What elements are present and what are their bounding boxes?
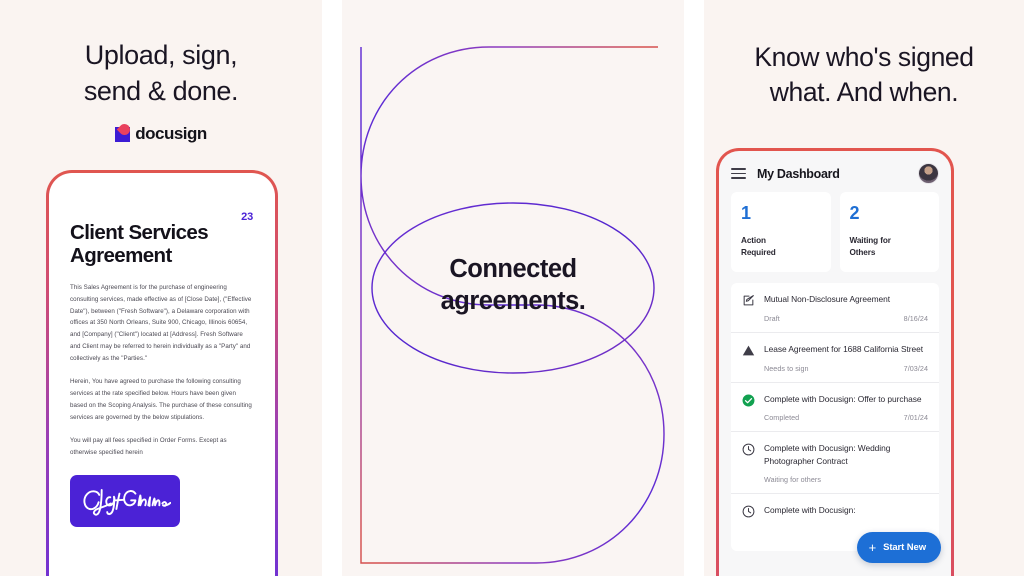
list-item-body: Complete with Docusign: Offer to purchas… xyxy=(764,393,928,423)
document-meta: Completed 7/01/24 xyxy=(764,413,928,422)
panel-connected-agreements: Connected agreements. xyxy=(342,0,684,576)
list-item[interactable]: Complete with Docusign: Wedding Photogra… xyxy=(731,432,939,494)
list-item[interactable]: Complete with Docusign: xyxy=(731,494,939,527)
panel-divider xyxy=(684,0,704,576)
dashboard-title: My Dashboard xyxy=(757,167,907,181)
right-headline-line1: Know who's signed xyxy=(754,42,973,72)
list-item-body: Complete with Docusign: xyxy=(764,504,928,518)
left-headline: Upload, sign, send & done. xyxy=(0,38,322,109)
hamburger-menu-icon[interactable] xyxy=(731,168,746,179)
document-paragraph: Herein, You have agreed to purchase the … xyxy=(70,376,254,424)
docusign-logo: docusign xyxy=(0,124,322,144)
clock-icon xyxy=(742,442,755,484)
document-name: Lease Agreement for 1688 California Stre… xyxy=(764,343,928,356)
stat-value: 2 xyxy=(850,204,930,222)
list-item[interactable]: Lease Agreement for 1688 California Stre… xyxy=(731,333,939,383)
document-title: Client Services Agreement xyxy=(70,221,254,268)
list-item[interactable]: Complete with Docusign: Offer to purchas… xyxy=(731,383,939,433)
dashboard-header: My Dashboard xyxy=(719,151,951,192)
plus-icon: + xyxy=(869,541,877,554)
edit-document-icon xyxy=(742,293,755,323)
panel-know-who-signed: Know who's signed what. And when. My Das… xyxy=(704,0,1024,576)
center-caption-line1: Connected xyxy=(449,255,576,283)
stat-card-waiting-for-others[interactable]: 2 Waiting for Others xyxy=(840,192,940,272)
document-title-line2: Agreement xyxy=(70,244,172,267)
document-meta: Waiting for others xyxy=(764,475,928,484)
start-new-button[interactable]: + Start New xyxy=(857,532,941,563)
list-item[interactable]: Mutual Non-Disclosure Agreement Draft 8/… xyxy=(731,283,939,333)
center-caption: Connected agreements. xyxy=(342,253,684,317)
panel-upload-sign: Upload, sign, send & done. docusign 23 C… xyxy=(0,0,322,576)
document-date: 7/03/24 xyxy=(904,364,928,373)
dashboard-screen: My Dashboard 1 Action Required 2 xyxy=(719,151,951,576)
stat-value: 1 xyxy=(741,204,821,222)
document-status: Waiting for others xyxy=(764,475,821,484)
left-headline-line1: Upload, sign, xyxy=(85,40,237,70)
stat-label: Waiting for Others xyxy=(850,235,930,258)
start-new-label: Start New xyxy=(883,542,926,553)
promo-screenshot: Upload, sign, send & done. docusign 23 C… xyxy=(0,0,1024,576)
document-status: Completed xyxy=(764,413,799,422)
document-meta: Draft 8/16/24 xyxy=(764,314,928,323)
check-circle-icon xyxy=(742,393,755,423)
document-name: Mutual Non-Disclosure Agreement xyxy=(764,293,928,306)
document-date: 8/16/24 xyxy=(904,314,928,323)
stat-label: Action Required xyxy=(741,235,821,258)
avatar[interactable] xyxy=(918,163,939,184)
document-title-line1: Client Services xyxy=(70,221,208,244)
panel-divider xyxy=(322,0,342,576)
document-meta: Needs to sign 7/03/24 xyxy=(764,364,928,373)
list-item-body: Mutual Non-Disclosure Agreement Draft 8/… xyxy=(764,293,928,323)
stat-card-action-required[interactable]: 1 Action Required xyxy=(731,192,831,272)
handwritten-signature-icon xyxy=(79,484,171,518)
docusign-logo-mark-icon xyxy=(115,127,130,142)
document-name: Complete with Docusign: Offer to purchas… xyxy=(764,393,928,406)
document-status: Needs to sign xyxy=(764,364,809,373)
list-item-body: Complete with Docusign: Wedding Photogra… xyxy=(764,442,928,484)
document-paragraph: This Sales Agreement is for the purchase… xyxy=(70,282,254,365)
center-caption-line2: agreements. xyxy=(441,287,586,315)
document-screen: 23 Client Services Agreement This Sales … xyxy=(49,173,275,576)
right-headline: Know who's signed what. And when. xyxy=(704,40,1024,110)
document-paragraph: You will pay all fees specified in Order… xyxy=(70,435,254,459)
document-list: Mutual Non-Disclosure Agreement Draft 8/… xyxy=(731,283,939,551)
phone-mockup-dashboard: My Dashboard 1 Action Required 2 xyxy=(716,148,954,576)
document-status: Draft xyxy=(764,314,780,323)
docusign-wordmark: docusign xyxy=(135,124,207,144)
list-item-body: Lease Agreement for 1688 California Stre… xyxy=(764,343,928,373)
signature-block[interactable] xyxy=(70,475,180,527)
document-name: Complete with Docusign: xyxy=(764,504,928,517)
document-page-number: 23 xyxy=(241,211,253,223)
document-name: Complete with Docusign: Wedding Photogra… xyxy=(764,442,928,467)
left-headline-line2: send & done. xyxy=(84,76,238,106)
warning-triangle-icon xyxy=(742,343,755,373)
dashboard-stat-cards: 1 Action Required 2 Waiting for Others xyxy=(719,192,951,272)
clock-icon xyxy=(742,504,755,518)
phone-mockup-document: 23 Client Services Agreement This Sales … xyxy=(46,170,278,576)
document-date: 7/01/24 xyxy=(904,413,928,422)
right-headline-line2: what. And when. xyxy=(770,77,958,107)
